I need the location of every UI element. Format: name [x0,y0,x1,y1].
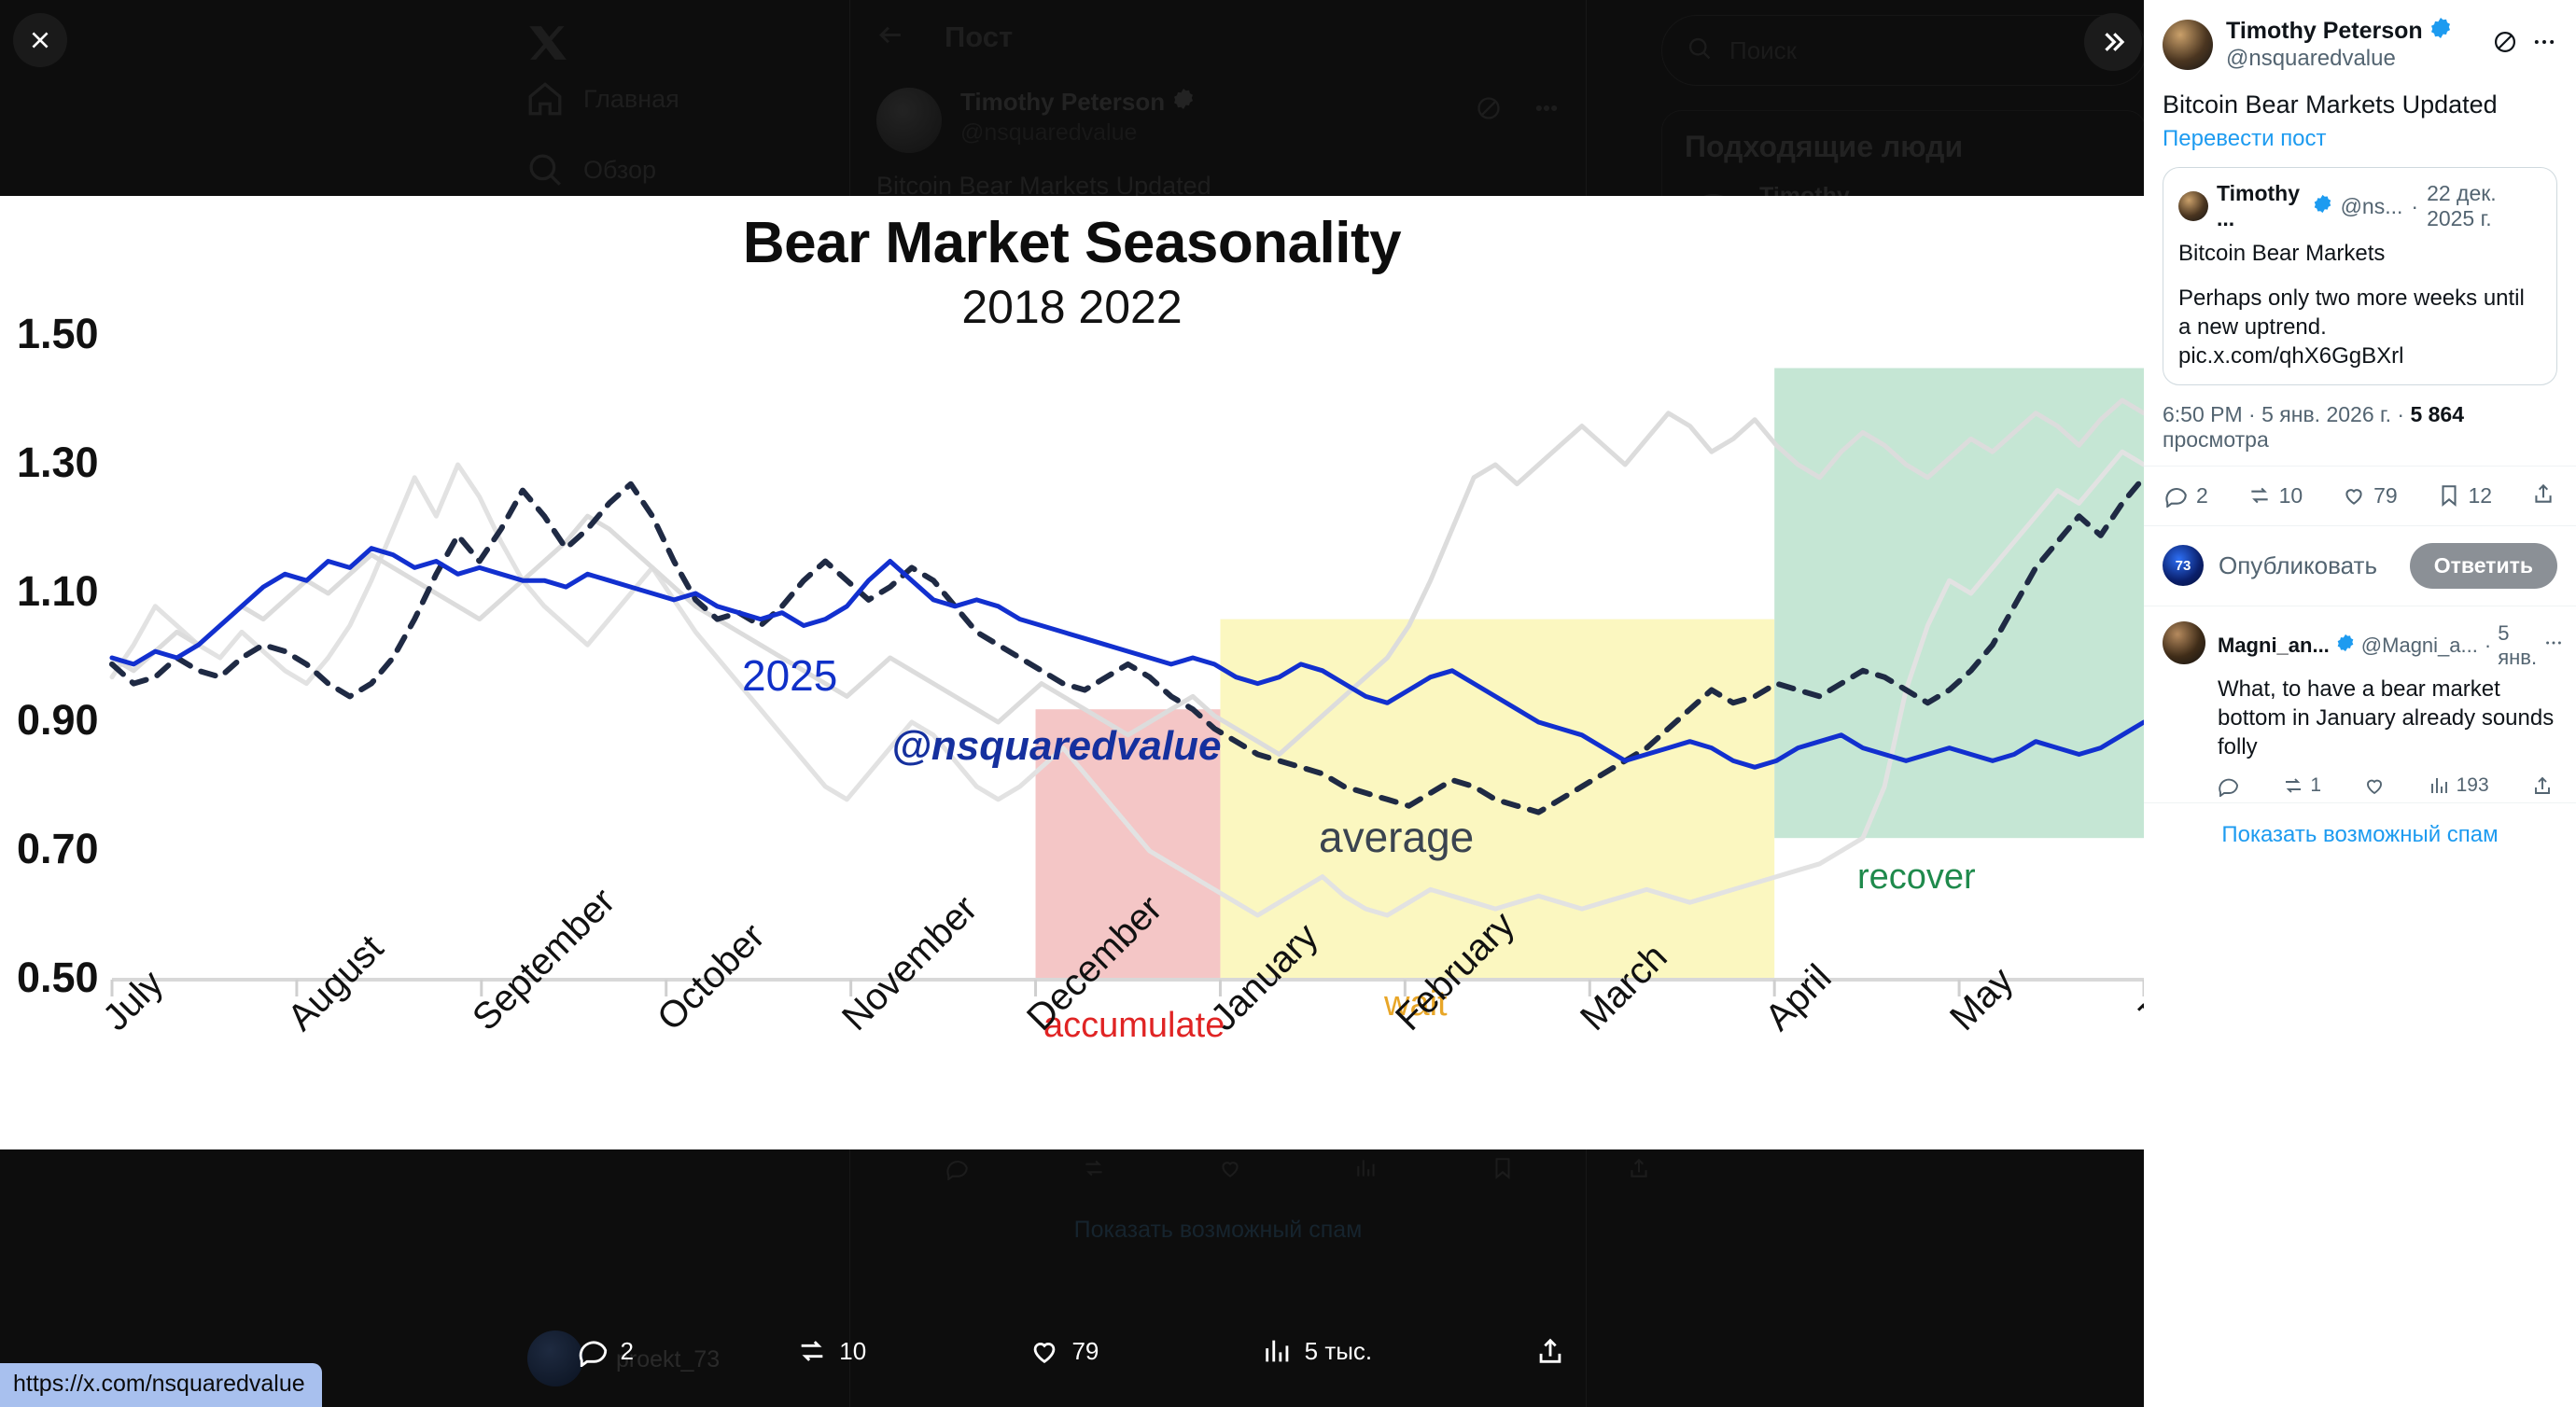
detail-author-name[interactable]: Timothy Peterson [2226,17,2479,46]
views-icon[interactable] [1354,1156,1379,1185]
search-input[interactable]: Поиск [1729,36,1797,65]
like-icon[interactable] [1218,1156,1242,1185]
detail-post-text: Bitcoin Bear Markets Updated [2144,77,2576,119]
home-icon [525,79,565,118]
repost-icon [2247,483,2272,508]
detail-comment: Magni_an... @Magni_a... · 5 янв. What, t… [2144,606,2576,803]
detail-composer[interactable]: 73 Опубликовать Ответить [2144,526,2576,606]
reply-icon [2218,774,2240,797]
search-icon [525,150,565,189]
like-action[interactable]: 79 [1029,1335,1099,1367]
stat-reposts[interactable]: 10 [2247,483,2303,508]
status-bar-url: https://x.com/nsquaredvalue [0,1363,322,1407]
stat-likes[interactable]: 79 [2342,483,2398,508]
y-tick-label: 1.10 [17,567,99,616]
y-tick-label: 0.70 [17,825,99,873]
share-action[interactable] [1534,1335,1566,1367]
verified-badge-icon [2429,17,2452,46]
detail-translate-link[interactable]: Перевести пост [2144,119,2576,152]
views-bars-icon [2429,774,2451,797]
repost-action[interactable]: 10 [796,1335,866,1367]
left-sidebar-nav: Главная Обзор [509,9,817,205]
more-icon[interactable] [1533,95,1560,126]
quoted-date: 22 дек. 2025 г. [2427,181,2541,231]
comment-handle: @Magni_a... [2361,634,2478,658]
section-title: Подходящие люди [1685,130,2123,164]
search-icon [1687,35,1713,66]
reply-icon [2164,483,2189,508]
share-icon [2531,774,2554,797]
verified-badge-icon [1172,88,1195,117]
x-logo-icon[interactable] [527,22,568,63]
avatar [2178,191,2208,221]
reply-button[interactable]: Ответить [2410,543,2557,589]
stat-replies[interactable]: 2 [2164,483,2208,508]
y-tick-label: 1.50 [17,310,99,358]
verified-badge-icon [2336,634,2355,658]
avatar[interactable] [2163,621,2205,664]
y-tick-label: 1.30 [17,439,99,487]
chevron-double-right-icon [2099,28,2127,56]
next-media-button[interactable] [2084,13,2142,71]
quoted-author-name: Timothy ... [2217,181,2304,231]
detail-meta: 6:50 PM · 5 янв. 2026 г. · 5 864 просмот… [2144,385,2576,467]
close-icon [28,28,52,52]
sidebar-item-home[interactable]: Главная [509,63,817,134]
y-tick-label: 0.50 [17,954,99,1002]
search-box[interactable]: Поиск [1661,15,2147,86]
close-button[interactable] [13,13,67,67]
chart-image-overlay: Bear Market Seasonality 2018 2022 2025 @… [0,196,2144,1149]
reply-icon[interactable] [945,1156,970,1185]
sidebar-item-label: Обзор [583,156,656,185]
annotation-recover: recover [1857,857,1976,898]
share-icon [2531,481,2555,506]
comment-author-name: Magni_an... [2218,634,2330,658]
avatar[interactable] [2163,20,2213,70]
annotation-2025: 2025 [742,650,837,701]
back-arrow-icon[interactable] [876,21,905,54]
bookmark-icon[interactable] [1491,1156,1515,1185]
y-tick-label: 0.90 [17,696,99,745]
quoted-post-card[interactable]: Timothy ... @ns... · 22 дек. 2025 г. Bit… [2163,167,2557,385]
reply-icon [578,1335,609,1367]
comment-date: 5 янв. [2498,621,2537,670]
sidebar-item-label: Главная [583,85,679,114]
share-icon [1534,1335,1566,1367]
zone-recover [1774,369,2144,839]
show-spam-link[interactable]: Показать возможный спам [850,1196,1586,1264]
detail-author-row[interactable]: Timothy Peterson @nsquaredvalue [2144,0,2576,77]
sidebar-item-explore[interactable]: Обзор [509,134,817,205]
repost-icon[interactable] [1082,1156,1106,1185]
comment-actions: 1 193 [2218,774,2557,797]
annotation-average: average [1319,812,1474,862]
verified-badge-icon [2313,194,2332,219]
author-handle[interactable]: @nsquaredvalue [960,119,1195,146]
heart-icon [1029,1335,1060,1367]
grok-icon[interactable] [2492,29,2518,60]
show-spam-link[interactable]: Показать возможный спам [2144,802,2576,867]
heart-icon [2342,483,2366,508]
post-detail-panel: Timothy Peterson @nsquaredvalue Bitcoin … [2144,0,2576,1407]
comment-text: What, to have a bear market bottom in Ja… [2218,675,2557,762]
quoted-line-2: Perhaps only two more weeks until a new … [2178,284,2541,371]
page-title: Пост [945,21,1013,54]
author-name[interactable]: Timothy Peterson [960,88,1195,117]
stat-bookmarks[interactable]: 12 [2437,483,2493,508]
detail-author-handle[interactable]: @nsquaredvalue [2226,46,2479,72]
detail-stats-row: 2 10 79 12 [2144,467,2576,526]
views-action[interactable]: 5 тыс. [1262,1335,1373,1367]
more-icon[interactable] [2543,633,2564,659]
annotation-handle: @nsquaredvalue [891,723,1221,770]
views-bars-icon [1262,1335,1294,1367]
avatar[interactable]: 73 [2163,545,2204,586]
bookmark-icon [2437,483,2461,508]
heart-icon [2363,774,2386,797]
repost-icon [2282,774,2304,797]
avatar[interactable] [876,88,942,153]
repost-icon [796,1335,828,1367]
quoted-handle: @ns... [2341,194,2403,219]
more-icon[interactable] [2531,29,2557,60]
quoted-line-1: Bitcoin Bear Markets [2178,241,2541,267]
share-icon[interactable] [1627,1156,1651,1185]
compose-input[interactable]: Опубликовать [2219,551,2377,580]
grok-icon[interactable] [1476,95,1502,126]
post-header: Пост [850,0,1586,75]
reply-action[interactable]: 2 [578,1335,634,1367]
share-action[interactable] [2531,481,2555,510]
